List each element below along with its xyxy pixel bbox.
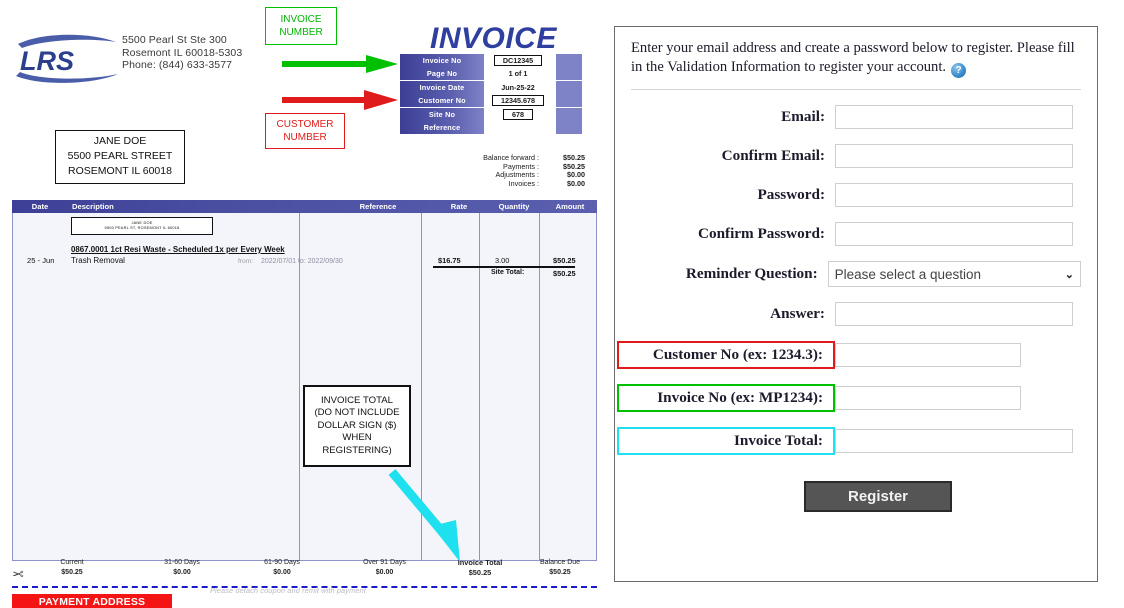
bill-to-name: JANE DOE [62, 134, 178, 149]
customer-no-value: 12345.678 [492, 95, 544, 106]
form-row-invoice-no: Invoice No (ex: MP1234): [615, 384, 1097, 412]
green-arrow-icon [282, 55, 398, 73]
service-description-line: 0867.0001 1ct Resi Waste - Scheduled 1x … [71, 245, 285, 254]
annotation-invoice-total-line4: WHEN [342, 432, 371, 445]
form-divider [631, 89, 1081, 90]
aging-label: 61-90 Days [232, 558, 332, 568]
annotation-invoice-total-line1: INVOICE TOTAL [321, 395, 393, 408]
line-row-amount: $50.25 [553, 256, 576, 265]
form-row-answer: Answer: [615, 302, 1097, 326]
invoice-no-label: Invoice No [400, 54, 484, 67]
page-no-value: 1 of 1 [484, 67, 552, 80]
company-address: 5500 Pearl St Ste 300 Rosemont IL 60018-… [122, 34, 242, 72]
answer-label: Answer: [615, 305, 835, 323]
site-no-value-cell: 678 [484, 108, 552, 121]
aging-value: $0.00 [232, 568, 332, 578]
aging-summary: Current $50.25 31-60 Days $0.00 61-90 Da… [12, 558, 597, 577]
invoice-no-field[interactable] [835, 386, 1021, 410]
line-row-reference: 2022/07/01 to: 2022/09/30 [261, 258, 343, 265]
aging-cell-31-60: 31-60 Days $0.00 [132, 558, 232, 577]
aging-label: 31-60 Days [132, 558, 232, 568]
site-address-street: 5500 PEARL ST, ROSEMONT IL 60018 [72, 225, 212, 230]
site-address-box: JANE DOE 5500 PEARL ST, ROSEMONT IL 6001… [71, 217, 213, 235]
reference-value [484, 121, 552, 134]
aging-cell-balance-due: Balance Due $50.25 [523, 558, 597, 577]
site-total-rule [433, 266, 575, 268]
confirm-email-field[interactable] [835, 144, 1073, 168]
invoice-title: INVOICE [430, 22, 557, 56]
confirm-password-label: Confirm Password: [615, 225, 835, 243]
site-total-amount: $50.25 [553, 269, 576, 278]
aging-label: Current [12, 558, 132, 568]
invoice-date-value: Jun-25-22 [484, 81, 552, 94]
column-header-description: Description [68, 202, 323, 211]
aging-value: $50.25 [523, 568, 597, 578]
annotation-customer-number: CUSTOMER NUMBER [265, 113, 345, 149]
site-no-value: 678 [503, 109, 533, 120]
lrs-logo: LRS [12, 30, 122, 86]
registration-intro-copy: Enter your email address and create a pa… [631, 40, 1075, 75]
invoice-header-row-invoice-date: Invoice Date Jun-25-22 [400, 81, 582, 94]
invoice-total-label: Invoice Total: [617, 427, 835, 455]
annotation-invoice-total-line2: (DO NOT INCLUDE [314, 407, 399, 420]
red-arrow-icon [282, 90, 398, 110]
header-row-tail [556, 54, 582, 67]
customer-no-label: Customer No [400, 94, 484, 107]
register-button-row: Register [615, 481, 1097, 512]
annotation-invoice-total-line5: REGISTERING) [322, 445, 391, 458]
form-row-confirm-email: Confirm Email: [615, 144, 1097, 168]
column-header-amount: Amount [543, 202, 597, 211]
customer-no-label: Customer No (ex: 1234.3): [617, 341, 835, 369]
invoice-no-value: DC12345 [494, 55, 542, 66]
annotation-invoice-total-line3: DOLLAR SIGN ($) [318, 420, 397, 433]
email-label: Email: [615, 108, 835, 126]
column-header-date: Date [12, 202, 68, 211]
invoice-header-row-customer-no: Customer No 12345.678 [400, 94, 582, 107]
balance-row: Adjustments : $0.00 [430, 171, 585, 180]
chevron-down-icon: ⌄ [1065, 268, 1074, 281]
aging-cell-current: Current $50.25 [12, 558, 132, 577]
header-row-tail [556, 81, 582, 94]
answer-field[interactable] [835, 302, 1073, 326]
header-row-tail [556, 121, 582, 134]
invoice-header-row-invoice-no: Invoice No DC12345 [400, 54, 582, 67]
line-row-from-label: from: [238, 258, 253, 265]
line-item-table: Date Description Reference Rate Quantity… [12, 200, 597, 561]
form-row-reminder-question: Reminder Question: Please select a quest… [615, 261, 1097, 287]
column-header-quantity: Quantity [485, 202, 543, 211]
aging-value: $0.00 [332, 568, 437, 578]
annotation-invoice-number: INVOICE NUMBER [265, 7, 337, 45]
invoices-label: Invoices : [430, 180, 545, 189]
bill-to-street: 5500 PEARL STREET [62, 149, 178, 164]
column-divider [299, 213, 300, 560]
svg-text:LRS: LRS [20, 46, 74, 76]
aging-cell-61-90: 61-90 Days $0.00 [232, 558, 332, 577]
column-header-reference: Reference [323, 202, 433, 211]
annotation-customer-number-line1: CUSTOMER [276, 118, 333, 131]
aging-label: Balance Due [523, 558, 597, 568]
page-no-label: Page No [400, 67, 484, 80]
form-row-confirm-password: Confirm Password: [615, 222, 1097, 246]
header-row-tail [556, 67, 582, 80]
site-total-label: Site Total: [491, 269, 524, 276]
company-address-line-3: Phone: (844) 633-3577 [122, 59, 242, 72]
balance-row: Invoices : $0.00 [430, 180, 585, 189]
company-address-line-2: Rosemont IL 60018-5303 [122, 47, 242, 60]
payment-address-banner: PAYMENT ADDRESS [12, 594, 172, 608]
column-header-rate: Rate [433, 202, 485, 211]
bill-to-city: ROSEMONT IL 60018 [62, 164, 178, 179]
invoice-header-fields: Invoice No DC12345 Page No 1 of 1 Invoic… [400, 54, 582, 135]
aging-value: $0.00 [132, 568, 232, 578]
confirm-password-field[interactable] [835, 222, 1073, 246]
password-field[interactable] [835, 183, 1073, 207]
confirm-email-label: Confirm Email: [615, 147, 835, 165]
annotation-invoice-number-line2: NUMBER [279, 26, 322, 39]
annotation-customer-number-line2: NUMBER [283, 131, 326, 144]
invoice-total-field[interactable] [835, 429, 1073, 453]
form-row-password: Password: [615, 183, 1097, 207]
header-row-tail [556, 94, 582, 107]
line-row-rate: $16.75 [438, 256, 461, 265]
help-icon[interactable]: ? [951, 63, 966, 78]
company-address-line-1: 5500 Pearl St Ste 300 [122, 34, 242, 47]
reminder-question-selected-value: Please select a question [835, 267, 981, 282]
email-field[interactable] [835, 105, 1073, 129]
invoice-date-label: Invoice Date [400, 81, 484, 94]
invoice-header-row-reference: Reference [400, 121, 582, 134]
annotation-invoice-number-line1: INVOICE [280, 13, 321, 26]
customer-no-field[interactable] [835, 343, 1021, 367]
line-item-table-header: Date Description Reference Rate Quantity… [12, 200, 597, 213]
scissors-icon: ✂ [12, 566, 24, 583]
detach-instruction: Please detach coupon and remit with paym… [210, 586, 366, 595]
annotation-invoice-total: INVOICE TOTAL (DO NOT INCLUDE DOLLAR SIG… [303, 385, 411, 467]
reminder-question-label: Reminder Question: [615, 265, 828, 283]
site-no-label: Site No [400, 108, 484, 121]
line-row-description: Trash Removal [71, 256, 125, 265]
header-row-tail [556, 108, 582, 121]
balance-summary: Balance forward : $50.25 Payments : $50.… [430, 154, 585, 188]
invoice-no-value-cell: DC12345 [484, 54, 552, 67]
registration-intro-text: Enter your email address and create a pa… [615, 27, 1097, 78]
invoice-document-image: LRS 5500 Pearl St Ste 300 Rosemont IL 60… [0, 0, 600, 608]
registration-form-panel: Enter your email address and create a pa… [614, 26, 1098, 582]
form-row-invoice-total: Invoice Total: [615, 427, 1097, 455]
invoices-amount: $0.00 [545, 180, 585, 189]
line-row-quantity: 3.00 [495, 256, 509, 265]
invoice-no-label: Invoice No (ex: MP1234): [617, 384, 835, 412]
form-row-customer-no: Customer No (ex: 1234.3): [615, 341, 1097, 369]
form-row-email: Email: [615, 105, 1097, 129]
bill-to-address-box: JANE DOE 5500 PEARL STREET ROSEMONT IL 6… [55, 130, 185, 184]
register-button[interactable]: Register [804, 481, 952, 512]
line-row-date: 25 - Jun [27, 256, 54, 265]
cyan-arrow-icon [388, 468, 468, 564]
aging-value: $50.25 [437, 568, 523, 578]
aging-value: $50.25 [12, 568, 132, 578]
password-label: Password: [615, 186, 835, 204]
invoice-header-row-site-no: Site No 678 [400, 108, 582, 121]
customer-no-value-cell: 12345.678 [484, 94, 552, 107]
reference-label: Reference [400, 121, 484, 134]
invoice-header-row-page-no: Page No 1 of 1 [400, 67, 582, 80]
reminder-question-select[interactable]: Please select a question ⌄ [828, 261, 1081, 287]
